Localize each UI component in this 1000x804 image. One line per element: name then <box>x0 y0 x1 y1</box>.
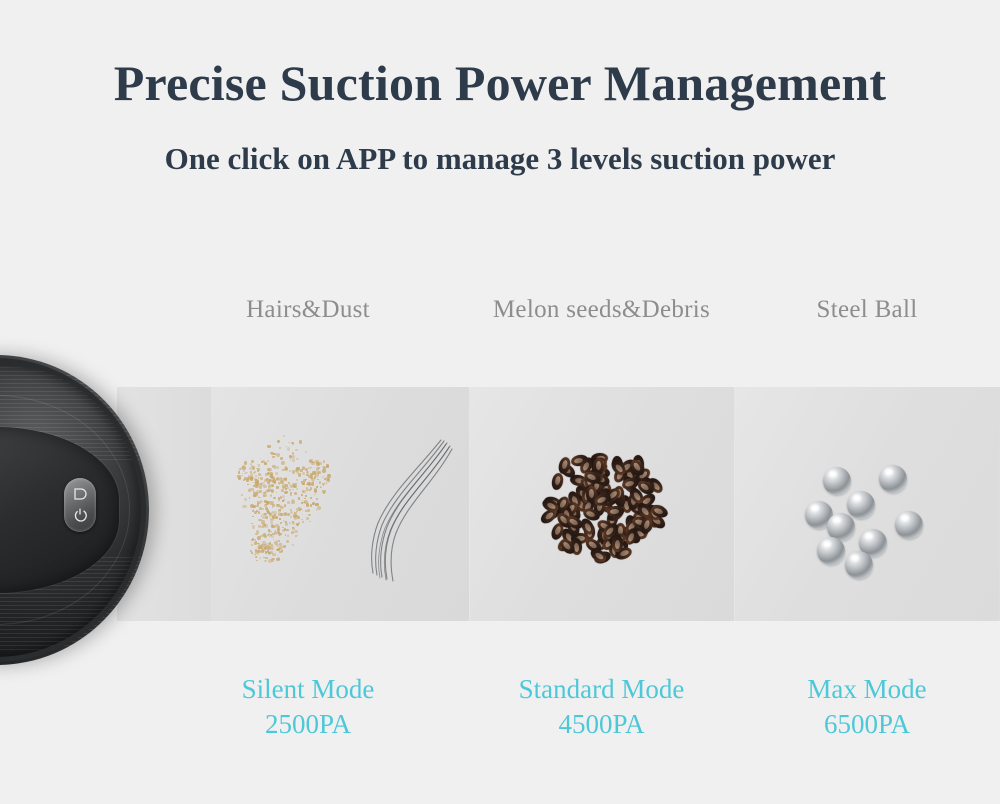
mode-power: 2500PA <box>147 707 469 742</box>
page-subtitle: One click on APP to manage 3 levels suct… <box>0 140 1000 177</box>
sample-panel-steel-ball <box>734 387 999 621</box>
mode-name: Silent Mode <box>147 672 469 707</box>
sample-photo-strip <box>117 387 1000 621</box>
hair-strands-image <box>351 435 459 585</box>
power-icon[interactable] <box>73 508 87 522</box>
dust-particles-image <box>227 435 351 575</box>
column-headers: Hairs&Dust Melon seeds&Debris Steel Ball <box>147 296 1000 324</box>
mode-silent: Silent Mode 2500PA <box>147 672 469 741</box>
mode-power: 4500PA <box>469 707 734 742</box>
sample-panel-melon-seeds <box>469 387 734 621</box>
melon-seeds-image <box>532 434 672 574</box>
mode-max: Max Mode 6500PA <box>734 672 1000 741</box>
dock-icon[interactable] <box>73 488 87 500</box>
page-title: Precise Suction Power Management <box>0 56 1000 111</box>
column-header-melon-seeds: Melon seeds&Debris <box>469 296 734 324</box>
vacuum-button-panel[interactable] <box>64 478 96 532</box>
sample-panel-hairs-dust <box>211 387 469 621</box>
column-header-hairs-dust: Hairs&Dust <box>147 296 469 324</box>
mode-standard: Standard Mode 4500PA <box>469 672 734 741</box>
robot-vacuum-image: ABIR <box>0 355 149 665</box>
mode-power: 6500PA <box>734 707 1000 742</box>
column-header-steel-ball: Steel Ball <box>734 296 1000 324</box>
mode-name: Standard Mode <box>469 672 734 707</box>
mode-name: Max Mode <box>734 672 1000 707</box>
mode-labels: Silent Mode 2500PA Standard Mode 4500PA … <box>147 672 1000 741</box>
steel-balls-image <box>787 439 947 569</box>
